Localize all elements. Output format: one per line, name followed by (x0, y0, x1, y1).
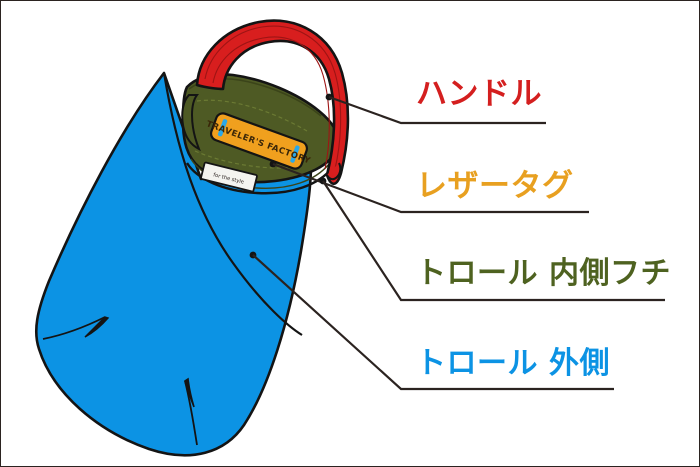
callout-label-handle: ハンドル (416, 79, 542, 110)
diagram-canvas: TRAVELER'S FACTORY for the style (0, 0, 700, 467)
callout-label-leather-tag: レザータグ (416, 171, 574, 202)
bag-illustration: TRAVELER'S FACTORY for the style (1, 1, 700, 467)
callout-label-inner-edge: トロール 内側フチ (416, 259, 671, 289)
callout-label-outer: トロール 外側 (416, 349, 610, 379)
